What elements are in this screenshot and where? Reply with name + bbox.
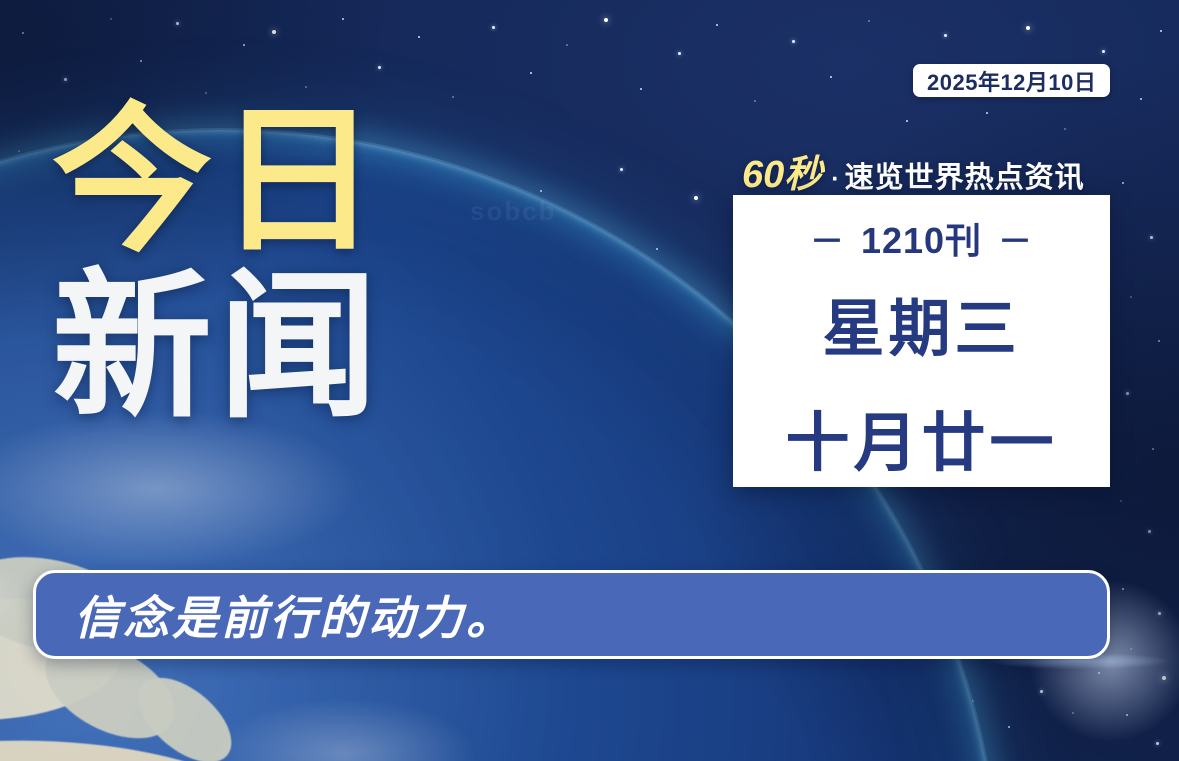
tagline-text: 速览世界热点资讯 <box>845 154 1085 196</box>
tagline-seconds: 60秒 <box>742 143 822 198</box>
issue-number-row: － 1210刊 － <box>810 212 1033 264</box>
lunar-date-label: 十月廿一 <box>786 392 1058 484</box>
quote-bar: 信念是前行的动力。 <box>33 570 1110 659</box>
title-line-today: 今日 <box>52 104 384 258</box>
weekday-label: 星期三 <box>822 278 1020 368</box>
date-badge: 2025年12月10日 <box>913 64 1110 97</box>
issue-card: － 1210刊 － 星期三 十月廿一 <box>733 195 1110 487</box>
tagline-separator: · <box>831 165 839 194</box>
news-poster: sobcb 今日 新闻 2025年12月10日 60秒 · 速览世界热点资讯 －… <box>0 0 1179 761</box>
tagline: 60秒 · 速览世界热点资讯 <box>742 143 1085 198</box>
issue-dash-right: － <box>998 214 1033 263</box>
issue-number: 1210刊 <box>861 212 982 264</box>
date-badge-label: 2025年12月10日 <box>927 65 1096 97</box>
quote-text: 信念是前行的动力。 <box>74 582 515 648</box>
poster-title: 今日 新闻 <box>52 104 384 423</box>
title-line-news: 新闻 <box>52 270 384 424</box>
issue-dash-left: － <box>810 214 845 263</box>
